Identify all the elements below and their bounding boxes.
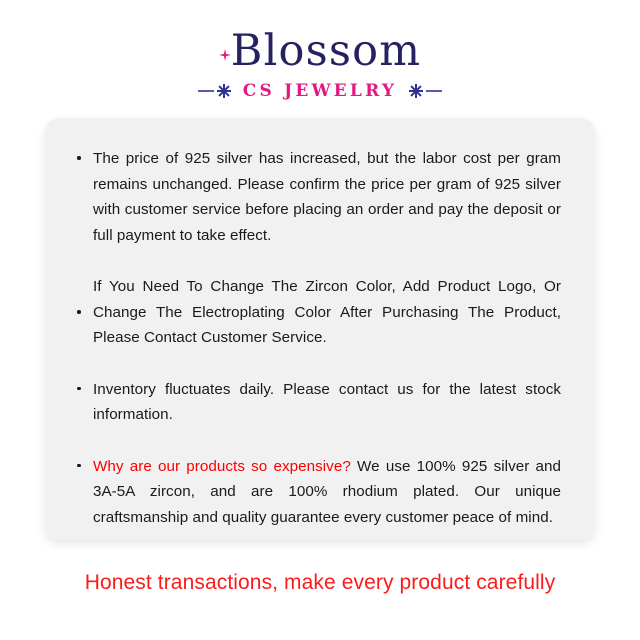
notice-highlight-question: Why are our products so expensive? <box>93 458 351 475</box>
bullet-icon <box>77 310 81 314</box>
bullet-icon <box>77 464 81 468</box>
notice-text: If You Need To Change The Zircon Color, … <box>93 274 561 351</box>
notice-item-pricing-explanation: Why are our products so expensive? We us… <box>75 454 561 531</box>
notice-text: The price of 925 silver has increased, b… <box>93 146 561 248</box>
snowflake-ornament-icon-left <box>198 83 236 99</box>
snowflake-ornament-icon-right <box>404 83 442 99</box>
brand-title-row: Blossom <box>0 28 640 74</box>
notice-card: The price of 925 silver has increased, b… <box>45 118 595 540</box>
bullet-icon <box>77 156 81 160</box>
brand-header: Blossom CS JEWELRY <box>0 0 640 101</box>
footer-slogan: Honest transactions, make every product … <box>0 568 640 598</box>
sparkle-diamond-icon <box>219 48 231 60</box>
brand-subtitle: CS JEWELRY <box>243 81 397 101</box>
notice-item-customization: If You Need To Change The Zircon Color, … <box>75 274 561 351</box>
notice-text: Inventory fluctuates daily. Please conta… <box>93 377 561 428</box>
notice-item-price: The price of 925 silver has increased, b… <box>75 146 561 248</box>
notice-item-inventory: Inventory fluctuates daily. Please conta… <box>75 377 561 428</box>
brand-subtitle-row: CS JEWELRY <box>0 81 640 101</box>
bullet-icon <box>77 387 81 391</box>
brand-title: Blossom <box>231 28 421 74</box>
notice-list: The price of 925 silver has increased, b… <box>75 146 561 530</box>
notice-text-wrapper: Why are our products so expensive? We us… <box>93 454 561 531</box>
